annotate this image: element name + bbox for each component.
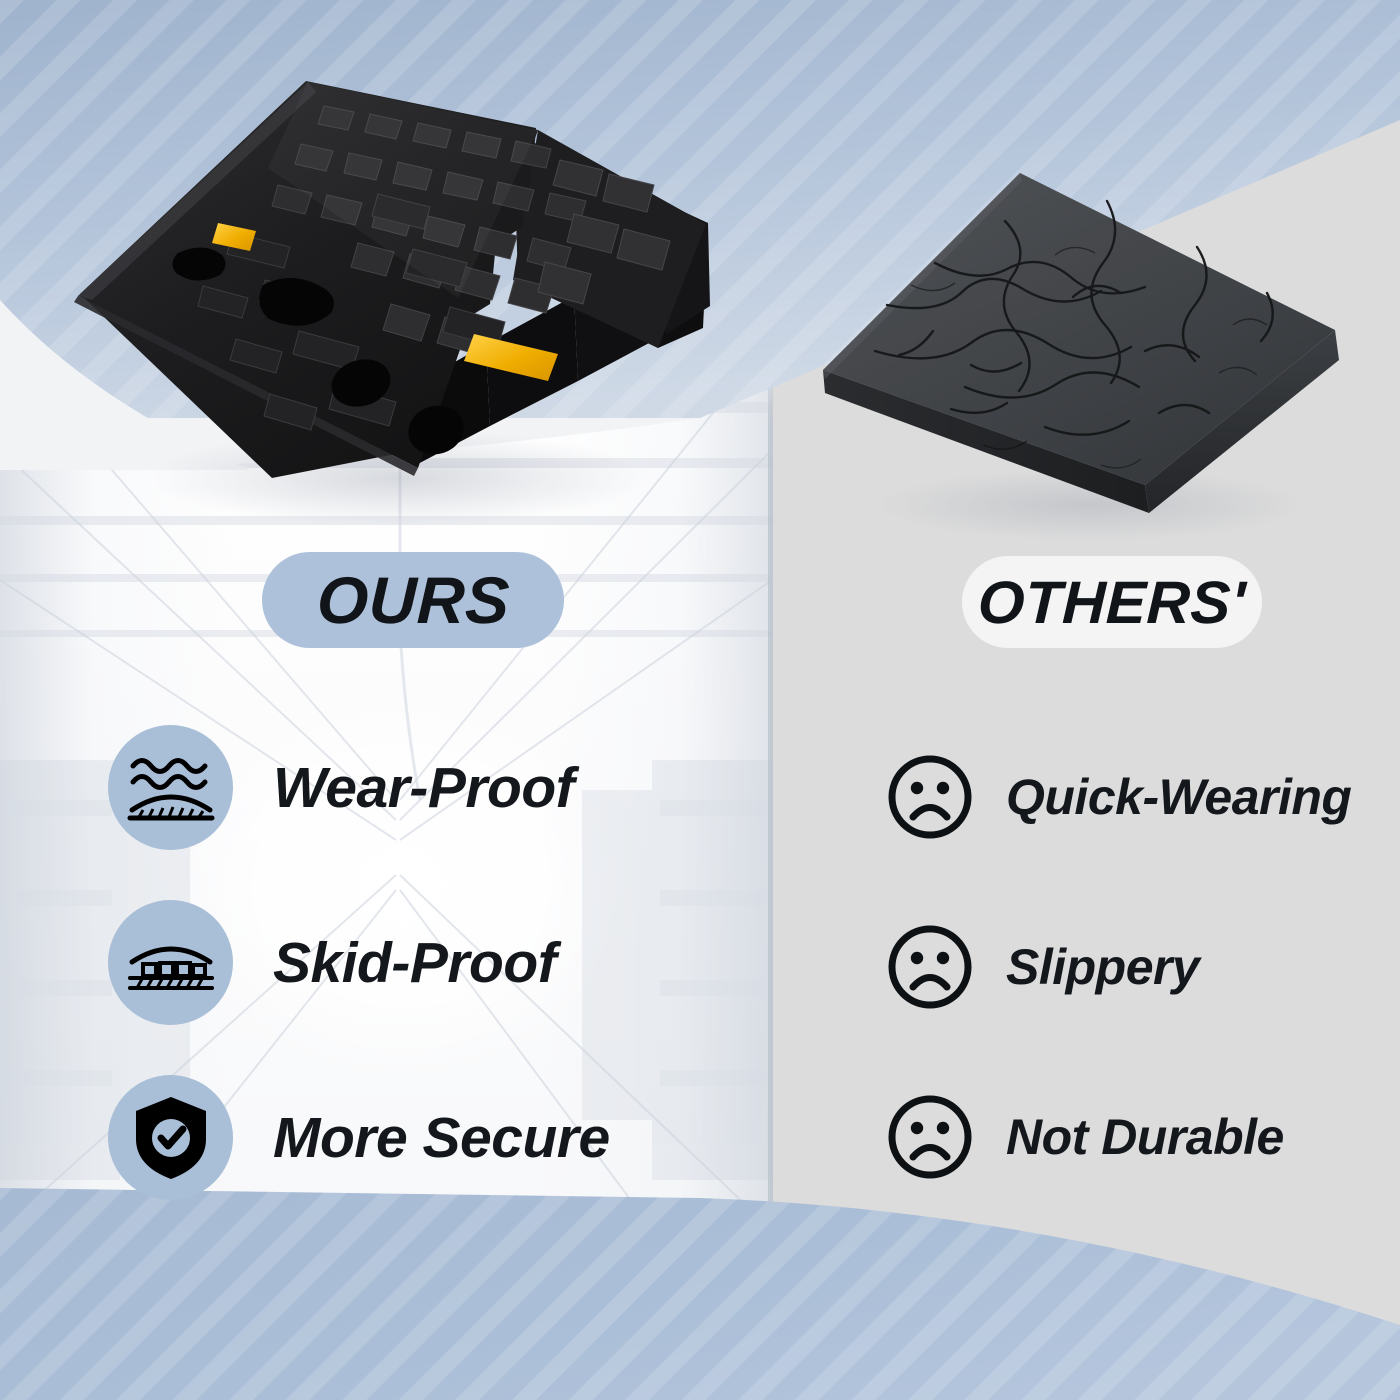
ours-feature-label: Wear-Proof [273, 755, 574, 821]
ours-feature-item-skid-proof: Skid-Proof [108, 875, 728, 1050]
others-feature-label: Slippery [1006, 938, 1199, 996]
others-feature-list: Quick-Wearing Slippery [884, 712, 1364, 1222]
ours-badge-label: OURS [315, 562, 510, 638]
ours-feature-label: More Secure [273, 1105, 610, 1171]
others-feature-item-slippery: Slippery [884, 882, 1364, 1052]
shield-check-icon-circle [108, 1075, 233, 1200]
others-badge-label: OTHERS' [977, 568, 1247, 637]
sad-face-icon-wrap [884, 1091, 976, 1183]
shield-check-icon [132, 1094, 210, 1182]
ours-product-image [58, 48, 758, 538]
others-feature-item-quick-wearing: Quick-Wearing [884, 712, 1364, 882]
sad-face-icon-wrap [884, 921, 976, 1013]
panel-divider [768, 340, 773, 1350]
ours-feature-item-more-secure: More Secure [108, 1050, 728, 1225]
others-badge: OTHERS' [962, 556, 1262, 648]
sad-face-icon [886, 753, 974, 841]
ours-feature-item-wear-proof: Wear-Proof [108, 700, 728, 875]
ours-feature-label: Skid-Proof [273, 930, 556, 996]
ours-feature-list: Wear-Proof [108, 700, 728, 1225]
wear-proof-icon [127, 752, 215, 824]
skid-proof-icon-circle [108, 900, 233, 1025]
sad-face-icon [886, 923, 974, 1011]
wear-proof-icon-circle [108, 725, 233, 850]
others-product-image [815, 155, 1360, 545]
skid-proof-icon [127, 932, 215, 994]
others-feature-label: Quick-Wearing [1006, 768, 1351, 826]
ours-badge: OURS [262, 552, 564, 648]
others-feature-item-not-durable: Not Durable [884, 1052, 1364, 1222]
infographic-canvas: OURS OTHERS' [0, 0, 1400, 1400]
others-feature-label: Not Durable [1006, 1108, 1284, 1166]
sad-face-icon-wrap [884, 751, 976, 843]
sad-face-icon [886, 1093, 974, 1181]
